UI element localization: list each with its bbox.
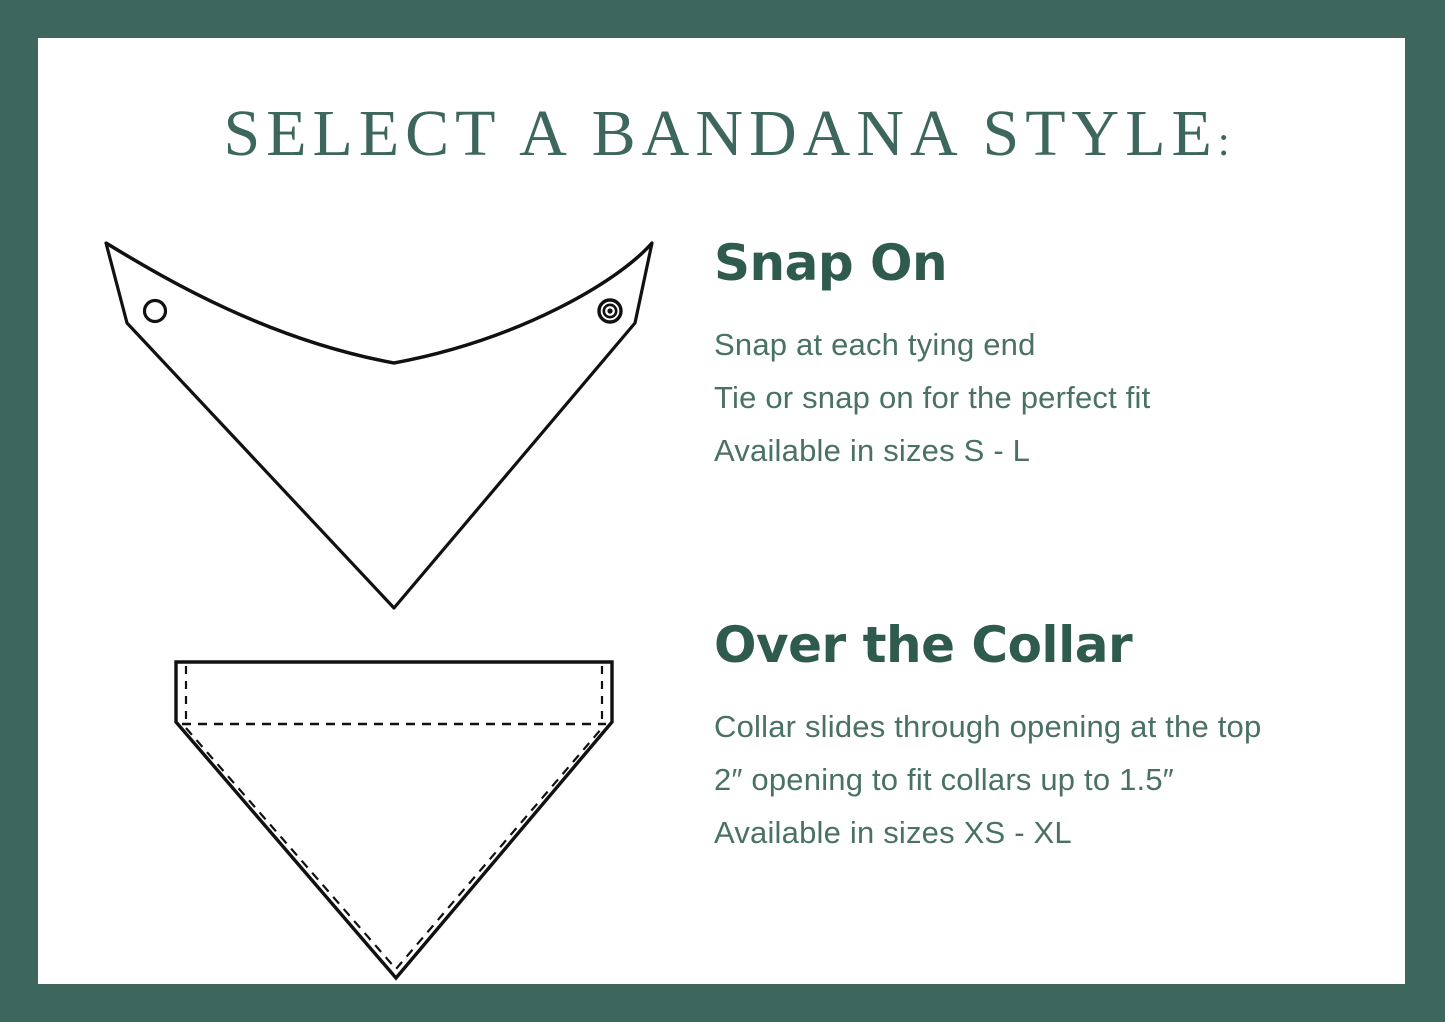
option-over-the-collar[interactable]: Over the Collar Collar slides through op… bbox=[714, 616, 1405, 859]
page-title: SELECT A BANDANA STYLE: bbox=[38, 96, 1405, 180]
option-detail-line: Available in sizes XS - XL bbox=[714, 806, 1405, 859]
page-title-colon: : bbox=[1218, 119, 1230, 165]
option-details-snap-on: Snap at each tying end Tie or snap on fo… bbox=[714, 318, 1405, 477]
over-the-collar-bandana-diagram bbox=[110, 600, 650, 984]
option-detail-line: Collar slides through opening at the top bbox=[714, 700, 1405, 753]
option-details-over-the-collar: Collar slides through opening at the top… bbox=[714, 700, 1405, 859]
over-the-collar-outline bbox=[176, 662, 612, 978]
bandana-style-card: SELECT A BANDANA STYLE: bbox=[0, 0, 1445, 1022]
option-snap-on[interactable]: Snap On Snap at each tying end Tie or sn… bbox=[714, 234, 1405, 477]
option-detail-line: Available in sizes S - L bbox=[714, 424, 1405, 477]
option-title-snap-on: Snap On bbox=[714, 234, 1405, 292]
male-snap-ring-icon bbox=[599, 300, 621, 322]
card-inner-panel: SELECT A BANDANA STYLE: bbox=[38, 38, 1405, 984]
page-title-text: SELECT A BANDANA STYLE bbox=[223, 97, 1217, 170]
female-snap-ring-icon bbox=[145, 301, 166, 322]
option-title-over-the-collar: Over the Collar bbox=[714, 616, 1405, 674]
snap-on-bandana-outline bbox=[106, 243, 652, 608]
option-detail-line: 2″ opening to fit collars up to 1.5″ bbox=[714, 753, 1405, 806]
option-detail-line: Tie or snap on for the perfect fit bbox=[714, 371, 1405, 424]
option-detail-line: Snap at each tying end bbox=[714, 318, 1405, 371]
snap-on-bandana-diagram bbox=[50, 190, 690, 635]
